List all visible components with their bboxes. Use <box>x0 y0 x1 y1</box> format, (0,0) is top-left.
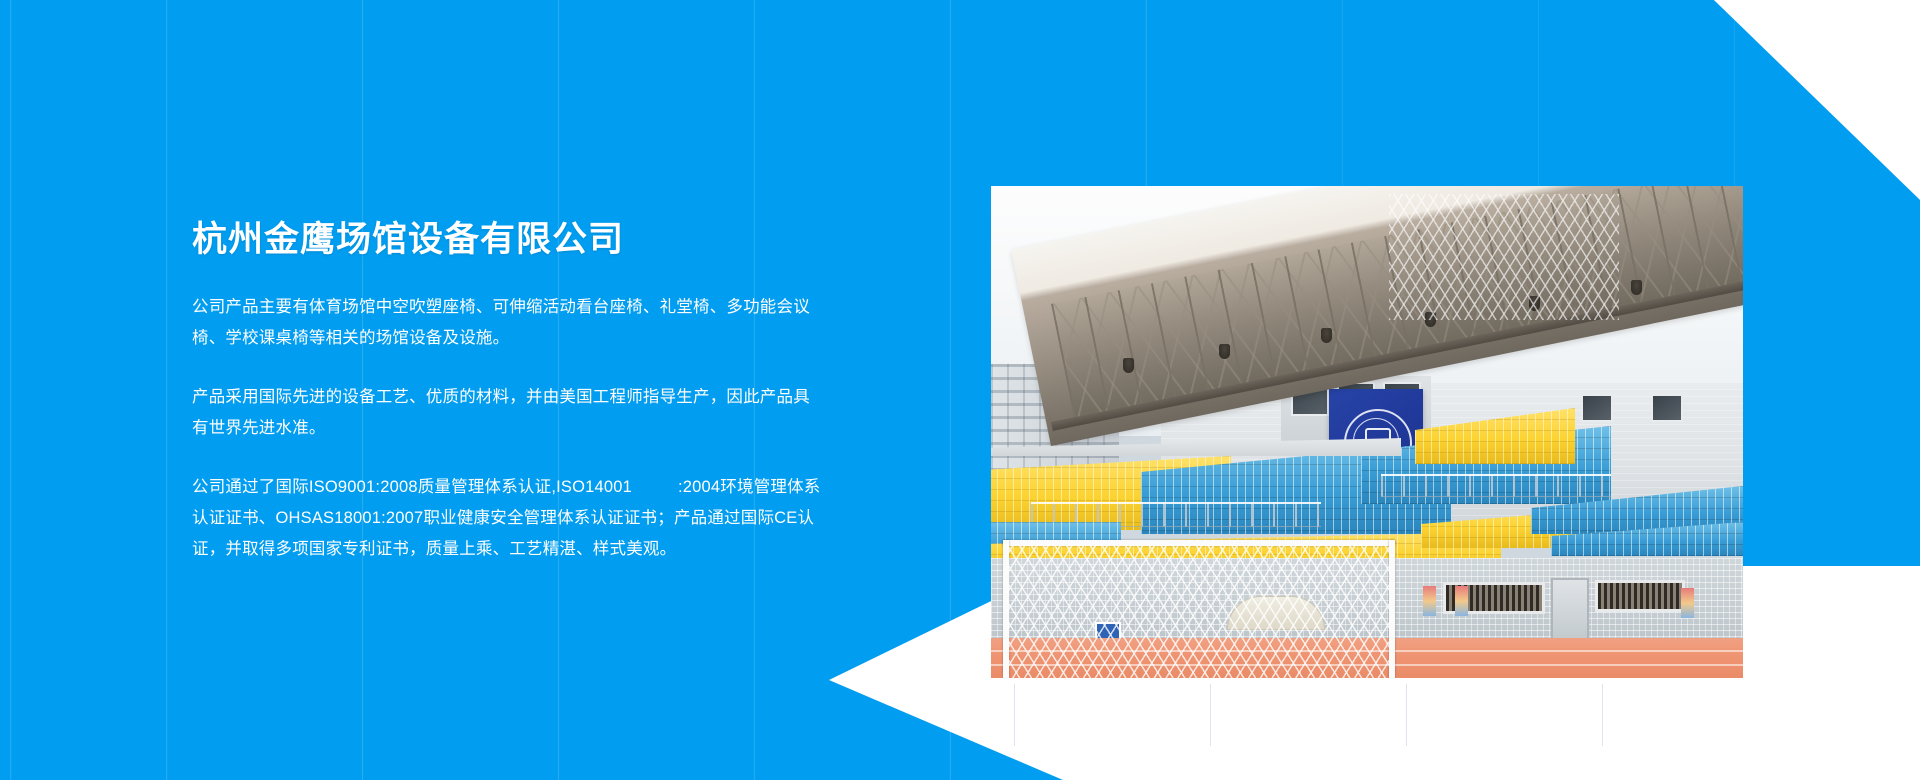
perimeter-net <box>1389 194 1619 320</box>
intro-paragraph-products: 公司产品主要有体育场馆中空吹塑座椅、可伸缩活动看台座椅、礼堂椅、多功能会议椅、学… <box>192 292 822 354</box>
stadium-photo <box>991 186 1743 678</box>
window <box>1651 394 1683 422</box>
stadium-photo-content <box>991 186 1743 678</box>
concourse-door <box>1551 578 1589 640</box>
window <box>1581 394 1613 422</box>
intro-paragraph-quality: 产品采用国际先进的设备工艺、优质的材料，并由美国工程师指导生产，因此产品具有世界… <box>192 382 822 444</box>
wall-poster <box>1455 586 1468 616</box>
roof-lamp-icon <box>1123 358 1134 373</box>
intro-paragraph-certifications: 公司通过了国际ISO9001:2008质量管理体系认证,ISO14001:200… <box>192 472 822 565</box>
company-title: 杭州金鹰场馆设备有限公司 <box>192 218 822 262</box>
company-intro-block: 杭州金鹰场馆设备有限公司 公司产品主要有体育场馆中空吹塑座椅、可伸缩活动看台座椅… <box>192 218 822 565</box>
roof-lamp-icon <box>1321 328 1332 343</box>
roof-lamp-icon <box>1631 280 1642 295</box>
wall-poster <box>1681 588 1694 618</box>
safety-railing <box>1381 474 1611 497</box>
certification-line-part-a: 公司通过了国际ISO9001:2008质量管理体系认证,ISO14001 <box>192 478 632 496</box>
wall-vent <box>1595 580 1685 612</box>
wall-poster <box>1423 586 1436 616</box>
hero-banner: 杭州金鹰场馆设备有限公司 公司产品主要有体育场馆中空吹塑座椅、可伸缩活动看台座椅… <box>0 0 1920 780</box>
roof-lamp-icon <box>1219 344 1230 359</box>
soccer-goal <box>993 538 1403 678</box>
goal-net <box>1007 544 1391 678</box>
